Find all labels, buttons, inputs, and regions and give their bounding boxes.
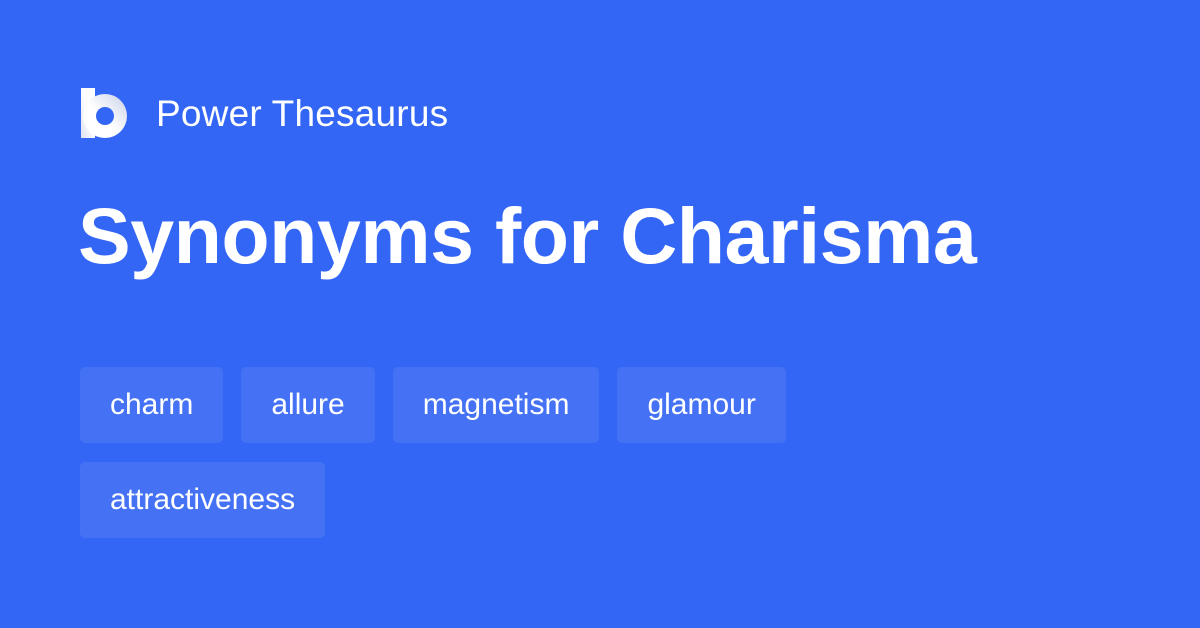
synonym-tag[interactable]: attractiveness xyxy=(80,462,325,538)
synonym-tag[interactable]: glamour xyxy=(617,367,785,443)
power-thesaurus-b-logo-icon xyxy=(80,86,130,140)
brand-header[interactable]: Power Thesaurus xyxy=(80,82,448,144)
synonym-tag[interactable]: allure xyxy=(241,367,374,443)
brand-name: Power Thesaurus xyxy=(156,95,448,132)
synonym-tag-row: charm allure magnetism glamour xyxy=(80,367,1120,443)
synonym-tag-row: attractiveness xyxy=(80,462,1120,538)
share-card: Power Thesaurus Synonyms for Charisma ch… xyxy=(0,0,1200,628)
synonym-tag-list: charm allure magnetism glamour attractiv… xyxy=(80,367,1120,538)
synonym-tag[interactable]: charm xyxy=(80,367,223,443)
synonym-tag[interactable]: magnetism xyxy=(393,367,600,443)
page-title: Synonyms for Charisma xyxy=(78,196,976,275)
